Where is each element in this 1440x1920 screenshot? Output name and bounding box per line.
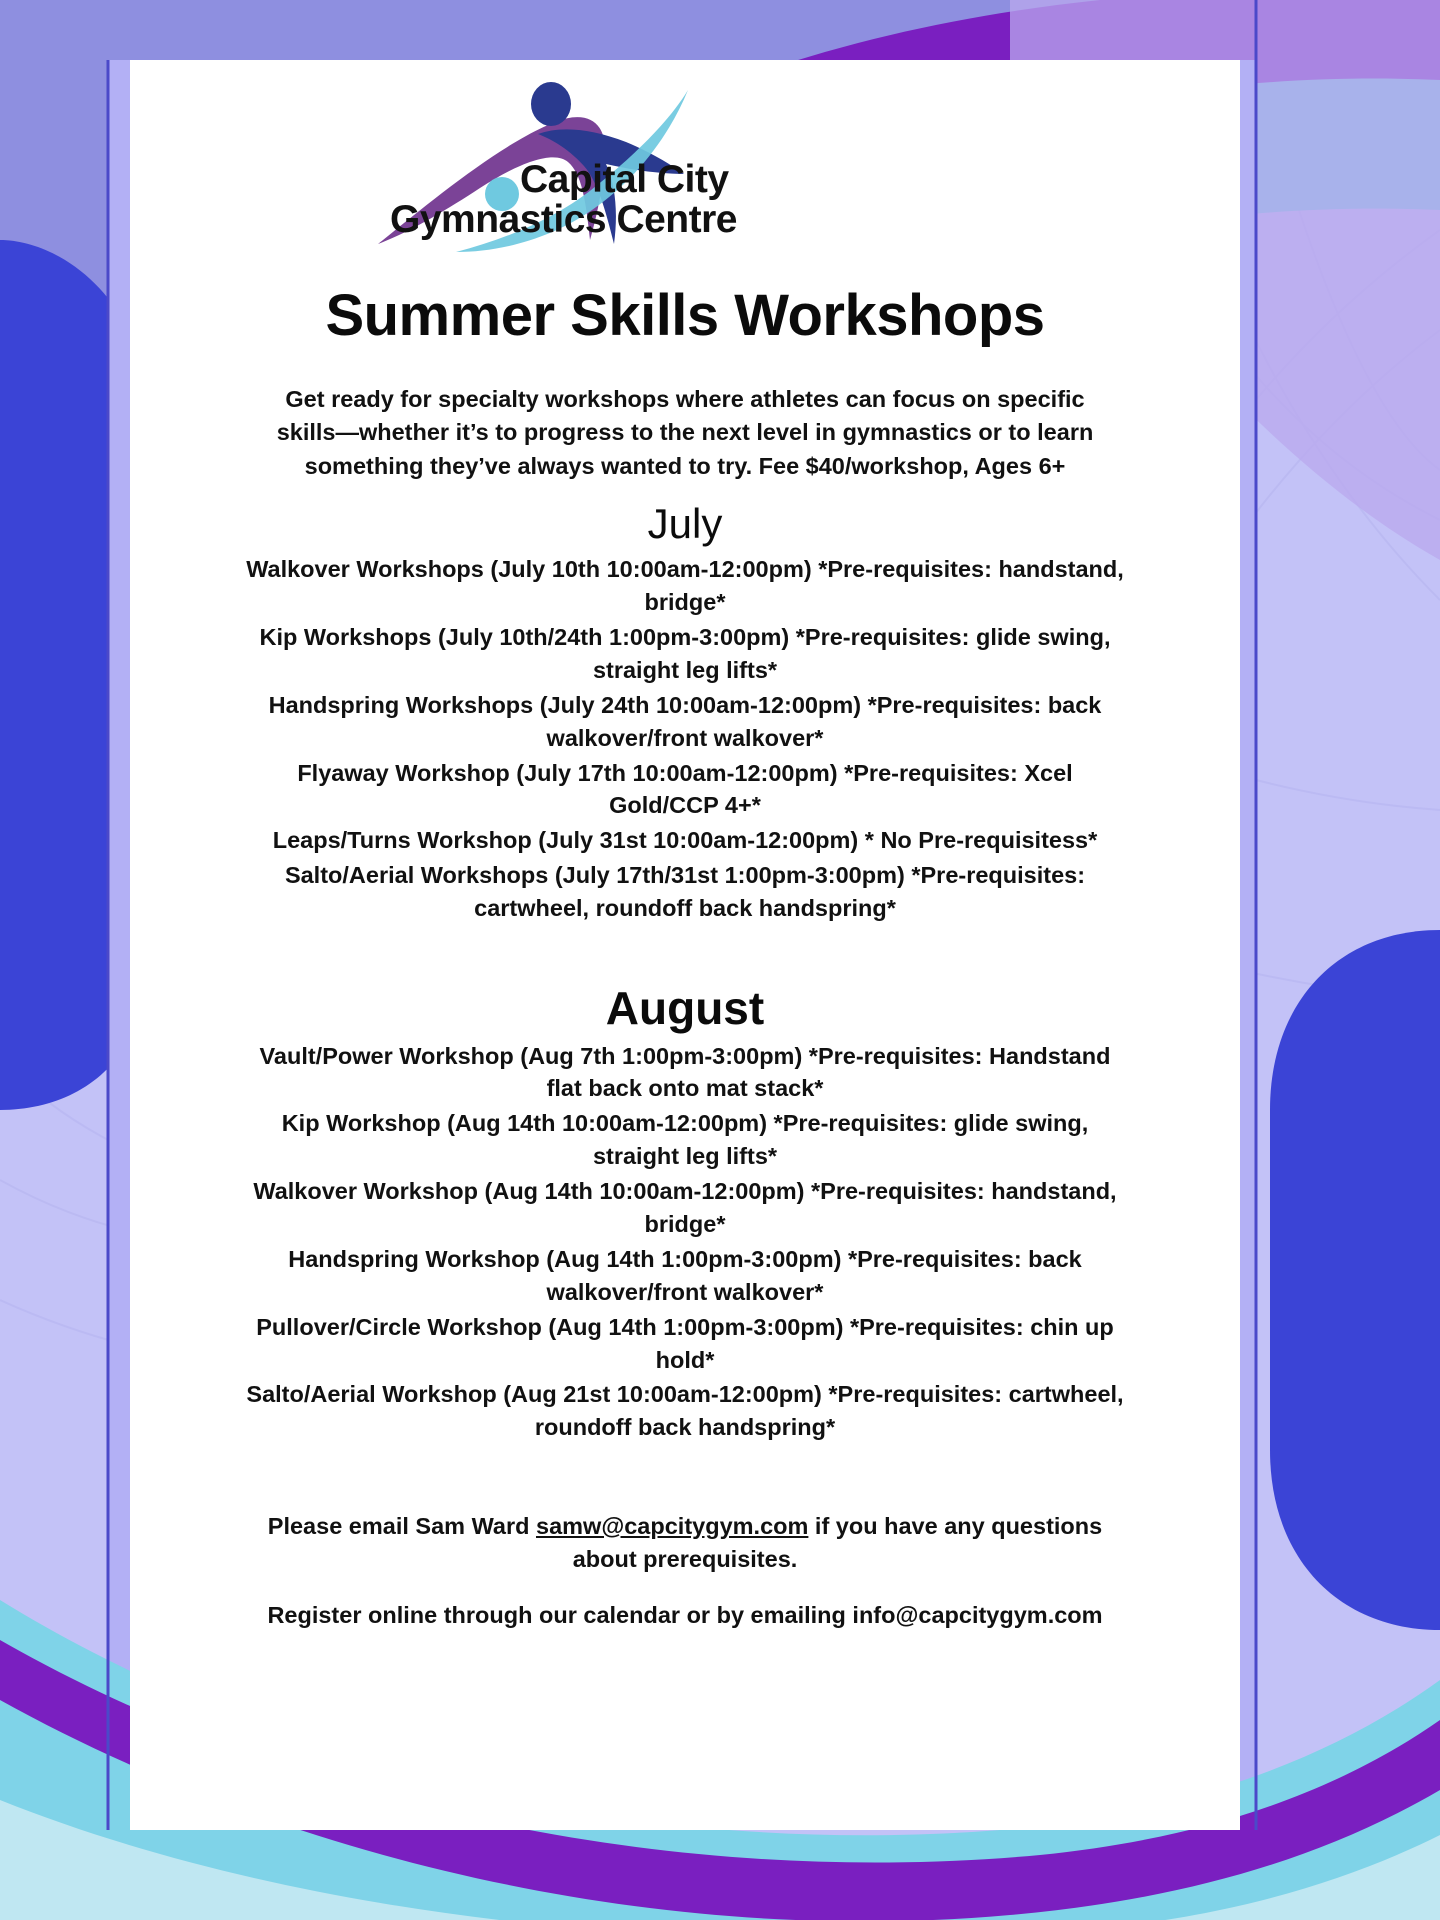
list-item: Kip Workshops (July 10th/24th 1:00pm-3:0… (245, 621, 1125, 687)
list-item: Handspring Workshop (Aug 14th 1:00pm-3:0… (245, 1243, 1125, 1309)
brand-line-1: Capital City (520, 158, 729, 201)
list-item: Flyaway Workshop (July 17th 10:00am-12:0… (245, 757, 1125, 823)
list-item: Handspring Workshops (July 24th 10:00am-… (245, 689, 1125, 755)
contact-prefix: Please email Sam Ward (268, 1513, 536, 1539)
list-item: Pullover/Circle Workshop (Aug 14th 1:00p… (245, 1311, 1125, 1377)
list-item: Walkover Workshops (July 10th 10:00am-12… (245, 553, 1125, 619)
list-item: Leaps/Turns Workshop (July 31st 10:00am-… (245, 824, 1125, 857)
poster-content: Capital City Gymnastics Centre Summer Sk… (130, 60, 1240, 1655)
august-heading: August (130, 983, 1240, 1034)
footer-spacer (130, 1446, 1240, 1486)
footer-block: Please email Sam Ward samw@capcitygym.co… (245, 1510, 1125, 1632)
july-workshop-list: Walkover Workshops (July 10th 10:00am-12… (245, 553, 1125, 925)
brand-wordmark: Capital City Gymnastics Centre (520, 160, 1120, 240)
list-item: Salto/Aerial Workshops (July 17th/31st 1… (245, 859, 1125, 925)
august-workshop-list: Vault/Power Workshop (Aug 7th 1:00pm-3:0… (245, 1040, 1125, 1445)
intro-paragraph: Get ready for specialty workshops where … (255, 383, 1115, 483)
email-link[interactable]: samw@capcitygym.com (536, 1513, 808, 1539)
list-item: Salto/Aerial Workshop (Aug 21st 10:00am-… (245, 1378, 1125, 1444)
poster-root: Capital City Gymnastics Centre Summer Sk… (0, 0, 1440, 1920)
contact-line: Please email Sam Ward samw@capcitygym.co… (245, 1510, 1125, 1576)
july-heading: July (130, 501, 1240, 547)
list-item: Vault/Power Workshop (Aug 7th 1:00pm-3:0… (245, 1040, 1125, 1106)
logo-head-icon (531, 82, 571, 126)
brand-line-2: Gymnastics Centre (390, 200, 1120, 240)
list-item: Kip Workshop (Aug 14th 10:00am-12:00pm) … (245, 1107, 1125, 1173)
page-title: Summer Skills Workshops (130, 286, 1240, 347)
brand-logo: Capital City Gymnastics Centre (130, 60, 1240, 280)
register-line: Register online through our calendar or … (245, 1599, 1125, 1632)
list-item: Walkover Workshop (Aug 14th 10:00am-12:0… (245, 1175, 1125, 1241)
